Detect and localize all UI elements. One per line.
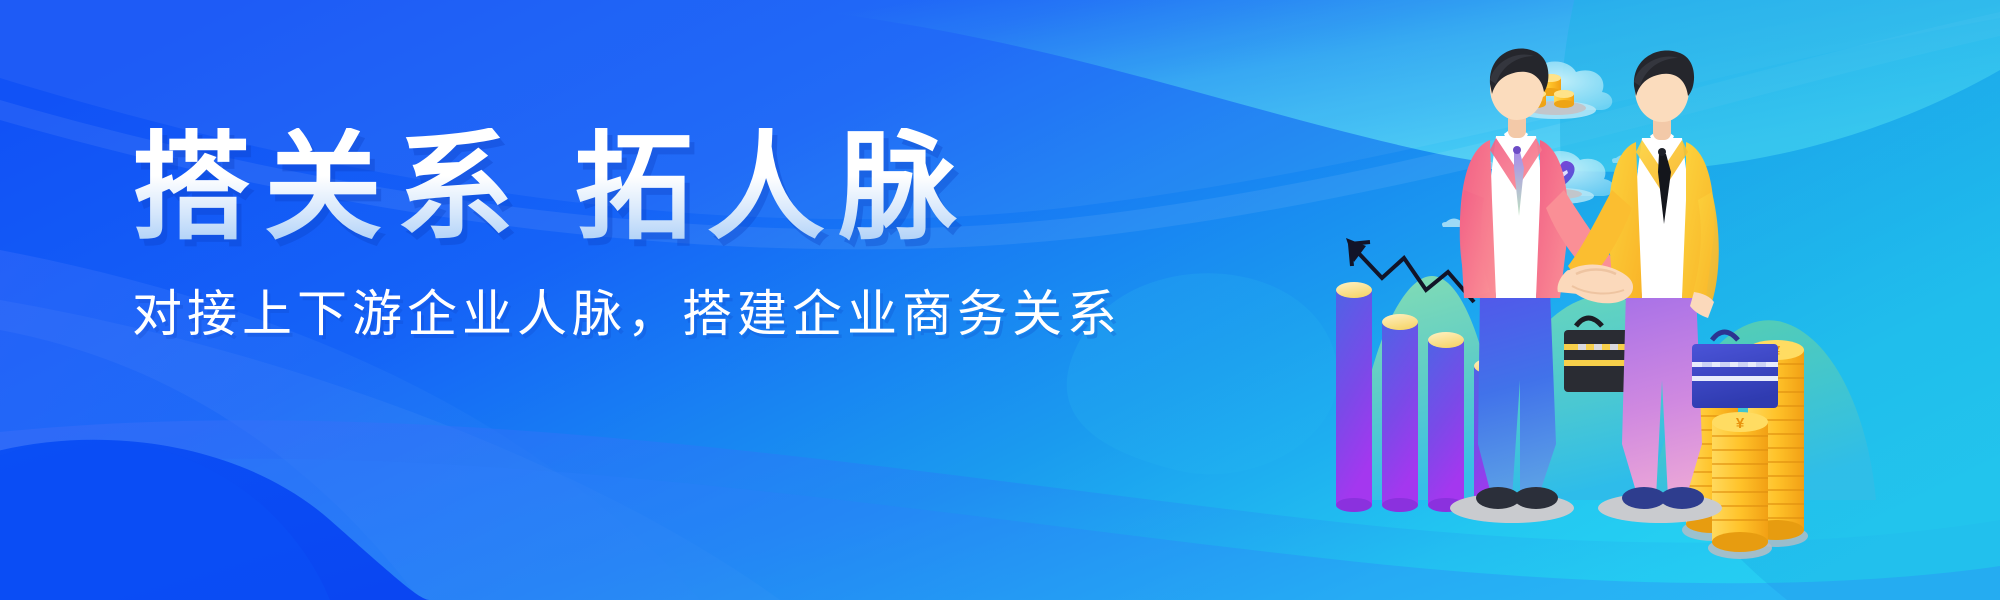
bar-cylinder [1428, 332, 1464, 512]
shoe [1622, 487, 1666, 509]
shoe [1514, 487, 1558, 509]
bar-cylinder [1382, 314, 1418, 512]
business-handshake-illustration: ¥ [1320, 40, 1880, 560]
page-title: 搭关系 拓人脉 [132, 128, 1232, 248]
shoe [1660, 487, 1704, 509]
promo-banner: 搭关系 拓人脉 对接上下游企业人脉，搭建企业商务关系 [0, 0, 2000, 600]
banner-text-block: 搭关系 拓人脉 对接上下游企业人脉，搭建企业商务关系 [132, 128, 1232, 346]
banner-subtitle: 对接上下游企业人脉，搭建企业商务关系 [132, 274, 1232, 346]
bar-cylinder [1336, 282, 1372, 512]
shoe [1476, 487, 1520, 509]
svg-text:¥: ¥ [1736, 415, 1745, 432]
